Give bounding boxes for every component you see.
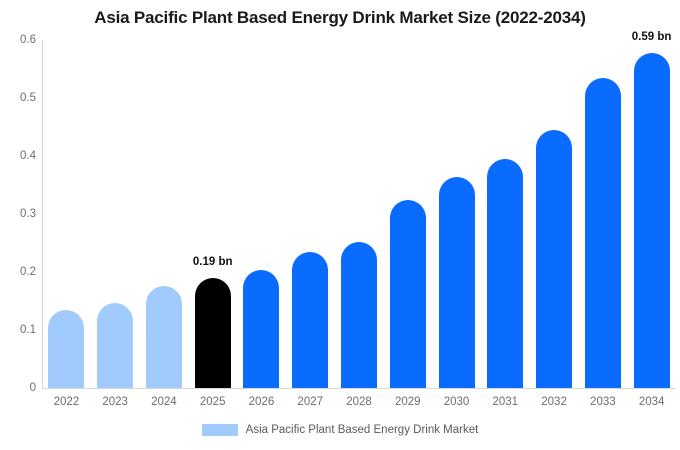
bar-slot [439,40,475,388]
chart-container: Asia Pacific Plant Based Energy Drink Ma… [0,0,680,450]
bar-slot [487,40,523,388]
bar-2024[interactable] [146,286,182,388]
y-axis-tick-label: 0.2 [2,266,36,278]
y-axis-tick-label: 0.3 [2,208,36,220]
y-axis-tick-label: 0.4 [2,150,36,162]
x-axis-tick-label: 2024 [151,396,177,408]
chart-title: Asia Pacific Plant Based Energy Drink Ma… [0,8,680,28]
bar-value-label-2034: 0.59 bn [632,31,672,43]
bar-slot [146,40,182,388]
bar-2027[interactable] [292,252,328,388]
x-axis-tick-label: 2032 [541,396,567,408]
bar-2033[interactable] [585,78,621,388]
x-axis-tick-label: 2028 [346,396,372,408]
plot-area [42,40,676,388]
bar-2029[interactable] [390,200,426,388]
bar-2025[interactable] [195,278,231,388]
x-axis-tick-label: 2030 [444,396,470,408]
bar-slot [97,40,133,388]
legend-label: Asia Pacific Plant Based Energy Drink Ma… [246,424,479,436]
y-axis-tick-labels: 0.60.50.40.30.20.10 [0,0,36,450]
bar-slot [195,40,231,388]
x-axis-tick-label: 2023 [102,396,128,408]
bar-slot [48,40,84,388]
x-axis-tick-label: 2025 [200,396,226,408]
bar-slot [536,40,572,388]
x-axis-tick-label: 2022 [54,396,80,408]
y-axis-tick-label: 0 [2,382,36,394]
x-axis-tick-label: 2027 [297,396,323,408]
bar-2023[interactable] [97,303,133,388]
x-axis-line [42,388,676,389]
y-axis-tick-label: 0.1 [2,324,36,336]
bar-2034[interactable] [634,53,670,388]
bar-slot [390,40,426,388]
bar-slot [341,40,377,388]
y-axis-tick-label: 0.6 [2,34,36,46]
legend-swatch [202,424,238,436]
bar-slot [634,40,670,388]
bar-2022[interactable] [48,310,84,388]
x-axis-tick-label: 2026 [249,396,275,408]
bar-slot [243,40,279,388]
bar-2028[interactable] [341,242,377,388]
bar-slot [585,40,621,388]
y-axis-tick-label: 0.5 [2,92,36,104]
x-axis-tick-label: 2029 [395,396,421,408]
bar-2026[interactable] [243,270,279,388]
chart-legend: Asia Pacific Plant Based Energy Drink Ma… [0,424,680,436]
bar-2031[interactable] [487,159,523,388]
x-axis-tick-label: 2034 [639,396,665,408]
x-axis-tick-label: 2033 [590,396,616,408]
bar-2030[interactable] [439,177,475,388]
bar-slot [292,40,328,388]
bar-2032[interactable] [536,130,572,388]
x-axis-tick-label: 2031 [493,396,519,408]
bar-value-label-2025: 0.19 bn [193,256,233,268]
